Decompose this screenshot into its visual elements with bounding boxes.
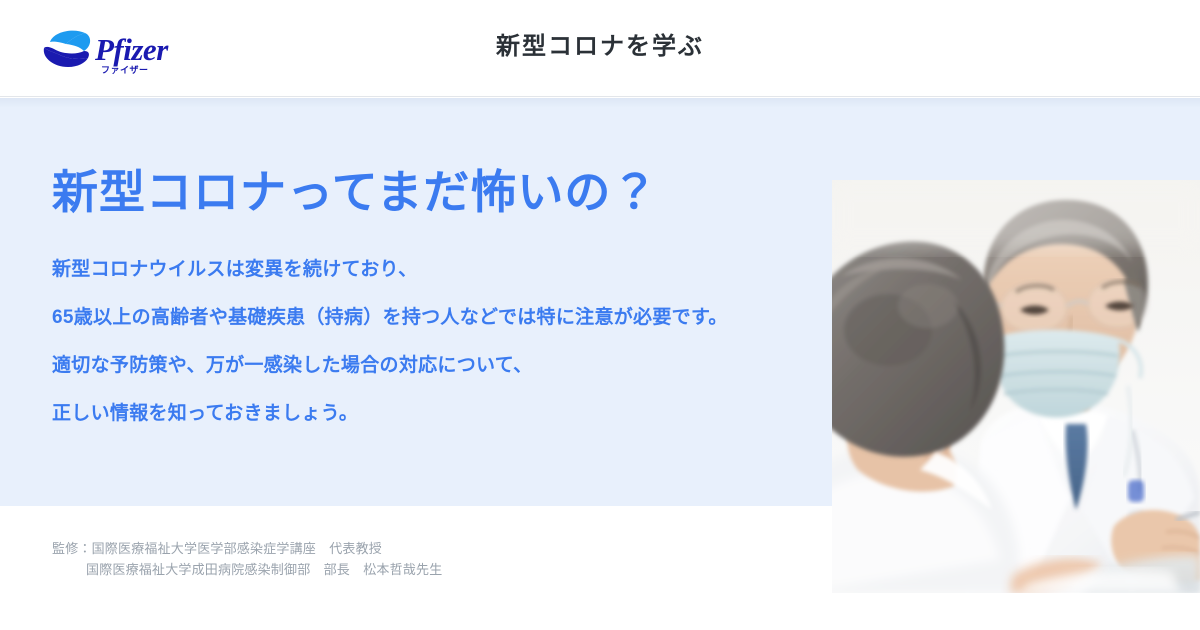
- doctor-patient-photo: [832, 180, 1200, 593]
- hero-body-line-1: 新型コロナウイルスは変異を続けており、: [52, 258, 792, 282]
- svg-text:ファイザー: ファイザー: [101, 65, 149, 75]
- credit-line-2: 国際医療福祉大学成田病院感染制御部 部長 松本哲哉先生: [52, 559, 692, 580]
- credit-line-1: 監修：国際医療福祉大学医学部感染症学講座 代表教授: [52, 538, 692, 559]
- hero-body-copy: 新型コロナウイルスは変異を続けており、 65歳以上の高齢者や基礎疾患（持病）を持…: [52, 258, 792, 426]
- hero-body-line-2: 65歳以上の高齢者や基礎疾患（持病）を持つ人などでは特に注意が必要です。: [52, 306, 792, 330]
- page-title: 新型コロナを学ぶ: [0, 30, 1200, 64]
- hero-body-line-4: 正しい情報を知っておきましょう。: [52, 402, 792, 426]
- doctor-patient-photo-image: [832, 180, 1200, 593]
- hero-body-line-3: 適切な予防策や、万が一感染した場合の対応について、: [52, 354, 792, 378]
- supervisor-credit: 監修：国際医療福祉大学医学部感染症学講座 代表教授 国際医療福祉大学成田病院感染…: [52, 538, 692, 580]
- hero-headline: 新型コロナってまだ怖いの？: [52, 163, 658, 221]
- page-header: Pfizer ファイザー 新型コロナを学ぶ: [0, 0, 1200, 97]
